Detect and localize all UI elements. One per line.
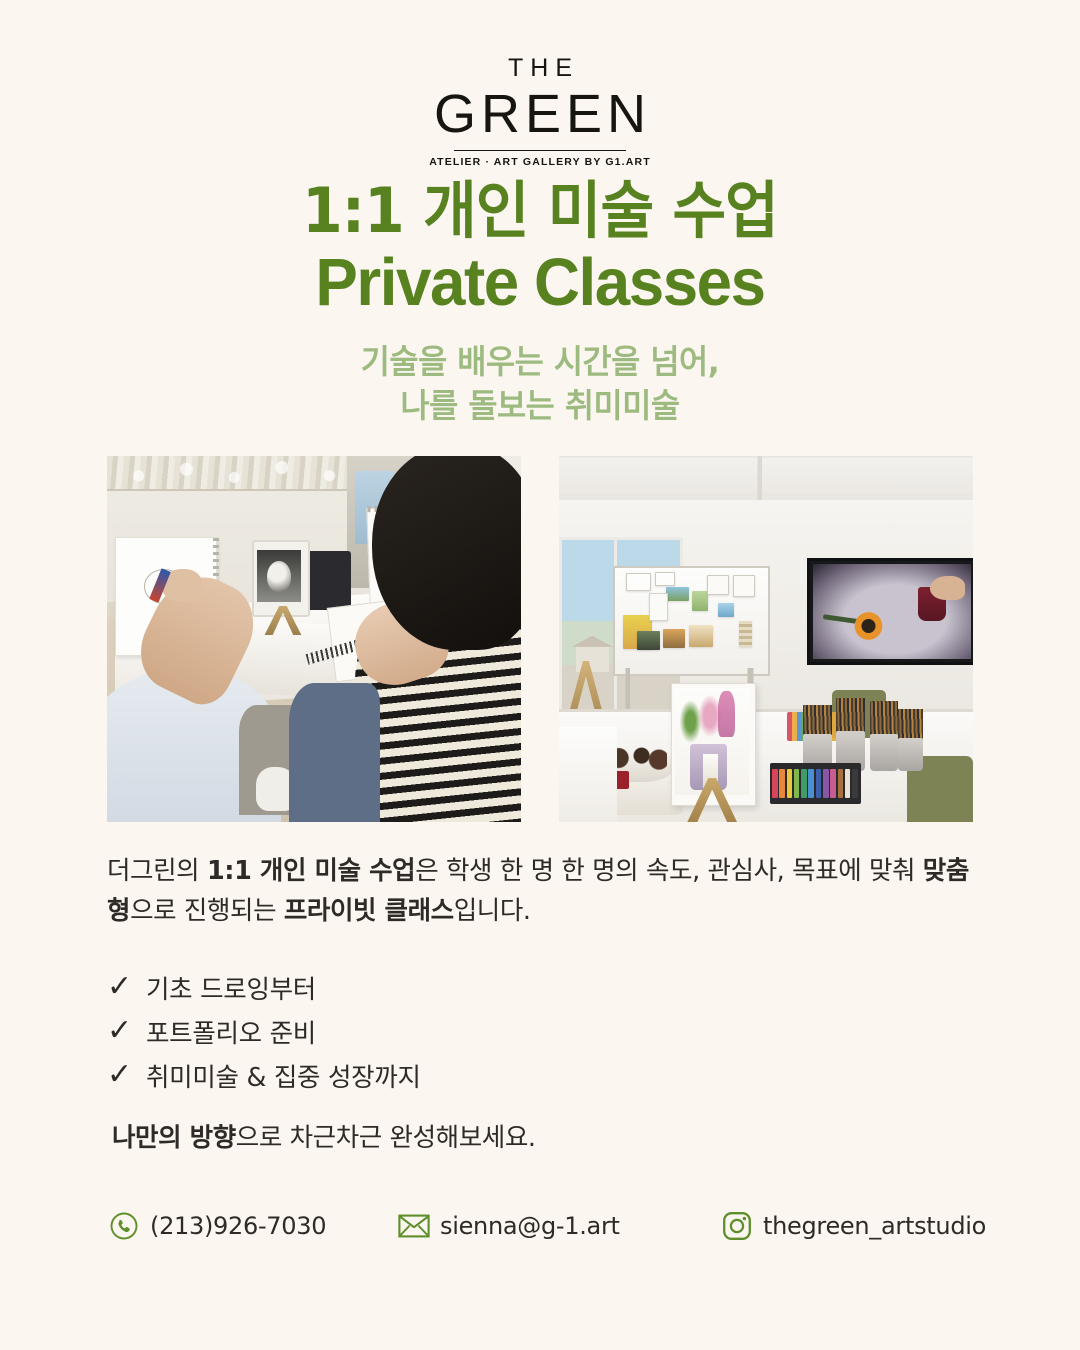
metal-tin-3 <box>870 734 899 771</box>
feature-checklist: ✓기초 드로잉부터✓포트폴리오 준비✓취미미술 & 집중 성장까지 <box>107 966 707 1098</box>
note-paper-1 <box>649 593 668 621</box>
checklist-item: ✓취미미술 & 집중 성장까지 <box>107 1054 707 1096</box>
phone-number: (213)926-7030 <box>141 1212 326 1240</box>
student-right-jeans <box>289 683 380 822</box>
note-still-life <box>689 625 712 647</box>
note-photo-dark <box>637 631 660 651</box>
contact-email[interactable]: sienna@g-1.art <box>397 1203 620 1249</box>
black-chair <box>306 551 352 610</box>
note-green <box>692 591 708 611</box>
checklist-item-label: 기초 드로잉부터 <box>143 969 316 1006</box>
checklist-item: ✓포트폴리오 준비 <box>107 1010 707 1052</box>
pastel-stick <box>772 769 778 798</box>
emphasis-text: 프라이빗 클래스 <box>284 896 454 926</box>
pastel-stick <box>816 769 822 798</box>
checklist-item: ✓기초 드로잉부터 <box>107 966 707 1008</box>
headline-korean: 1:1 개인 미술 수업 <box>32 178 1047 245</box>
photo-right-scene <box>559 456 973 822</box>
subtitle-line-1: 기술을 배우는 시간을 넘어, <box>22 340 1059 384</box>
sunflower <box>848 610 889 642</box>
note-diagram <box>707 575 729 595</box>
painting-magenta-spike <box>718 691 734 738</box>
brush-bundle-1 <box>803 705 832 738</box>
brush-bundle-2 <box>836 698 865 735</box>
pastel-stick <box>787 769 793 798</box>
plain-text: 으로 차근차근 완성해보세요. <box>236 1123 536 1153</box>
body-paragraph: 더그린의 1:1 개인 미술 수업은 학생 한 명 한 명의 속도, 관심사, … <box>107 851 987 932</box>
brush-bundle-4 <box>898 709 923 742</box>
white-panel-board <box>559 727 617 822</box>
poster-canvas: THE GREEN ATELIER · ART GALLERY BY G1.AR… <box>0 0 1080 1350</box>
pastel-stick <box>808 769 814 798</box>
contact-phone[interactable]: (213)926-7030 <box>107 1203 326 1249</box>
headline-english: Private Classes <box>27 247 1053 318</box>
wall-television <box>807 558 973 664</box>
photo-studio-interior <box>559 456 973 822</box>
instagram-handle: thegreen_artstudio <box>754 1212 986 1240</box>
pinned-artwork-notes <box>617 569 762 668</box>
pastel-stick <box>823 769 829 798</box>
phone-icon <box>107 1209 141 1243</box>
tv-still-life-image <box>813 564 971 658</box>
instagram-icon <box>720 1209 754 1243</box>
wall-relief-art <box>107 456 372 491</box>
page-title: 1:1 개인 미술 수업 Private Classes <box>0 178 1080 318</box>
ceiling-tile-grid <box>559 456 973 504</box>
plain-text: 은 학생 한 명 한 명의 속도, 관심사, 목표에 맞춰 <box>415 856 923 886</box>
subtitle-line-2: 나를 돌보는 취미미술 <box>22 384 1059 428</box>
tablet-screen-sphere <box>257 550 301 601</box>
note-landscape <box>666 587 689 601</box>
envelope-icon <box>397 1209 431 1243</box>
note-sketch-1 <box>626 573 651 591</box>
photo-left-scene <box>107 456 521 822</box>
pastel-stick <box>845 769 851 798</box>
contact-footer: (213)926-7030 sienna@g-1.art thegree <box>107 1203 993 1253</box>
ceiling <box>559 456 973 504</box>
check-icon: ✓ <box>107 1016 143 1046</box>
note-photo-sky <box>663 629 685 649</box>
subtitle: 기술을 배우는 시간을 넘어, 나를 돌보는 취미미술 <box>22 340 1059 427</box>
brand-logo: THE GREEN ATELIER · ART GALLERY BY G1.AR… <box>0 56 1080 168</box>
emphasis-text: 나만의 방향 <box>112 1123 236 1153</box>
logo-divider <box>454 150 626 152</box>
checklist-item-label: 취미미술 & 집중 성장까지 <box>143 1057 421 1094</box>
note-sketch-2 <box>655 572 676 586</box>
pastel-stick <box>838 769 844 798</box>
plain-text: 입니다. <box>454 896 531 926</box>
email-address: sienna@g-1.art <box>431 1212 620 1240</box>
note-strip <box>739 621 752 647</box>
checklist-item-label: 포트폴리오 준비 <box>143 1013 316 1050</box>
note-bottle-sketch <box>733 575 755 597</box>
check-icon: ✓ <box>107 972 143 1002</box>
logo-tagline: ATELIER · ART GALLERY BY G1.ART <box>0 157 1080 168</box>
note-blue <box>718 603 734 617</box>
contact-instagram[interactable]: thegreen_artstudio <box>720 1203 986 1249</box>
hand-holding-cup <box>930 576 965 600</box>
metal-tin-4 <box>898 738 923 771</box>
plain-text: 더그린의 <box>107 856 207 886</box>
pastel-stick <box>852 769 858 798</box>
check-icon: ✓ <box>107 1060 143 1090</box>
logo-the-text: THE <box>0 56 1080 81</box>
logo-green-text: GREEN <box>0 86 1080 143</box>
pastel-stick <box>801 769 807 798</box>
emphasis-text: 1:1 개인 미술 수업 <box>207 856 415 886</box>
oil-pastel-box <box>770 763 861 803</box>
photo-students-drawing <box>107 456 521 822</box>
pastel-stick <box>830 769 836 798</box>
closing-line: 나만의 방향으로 차근차근 완성해보세요. <box>112 1117 536 1154</box>
plain-text: 으로 진행되는 <box>130 896 284 926</box>
pastel-stick <box>779 769 785 798</box>
pastel-stick <box>794 769 800 798</box>
brush-bundle-3 <box>870 701 899 738</box>
